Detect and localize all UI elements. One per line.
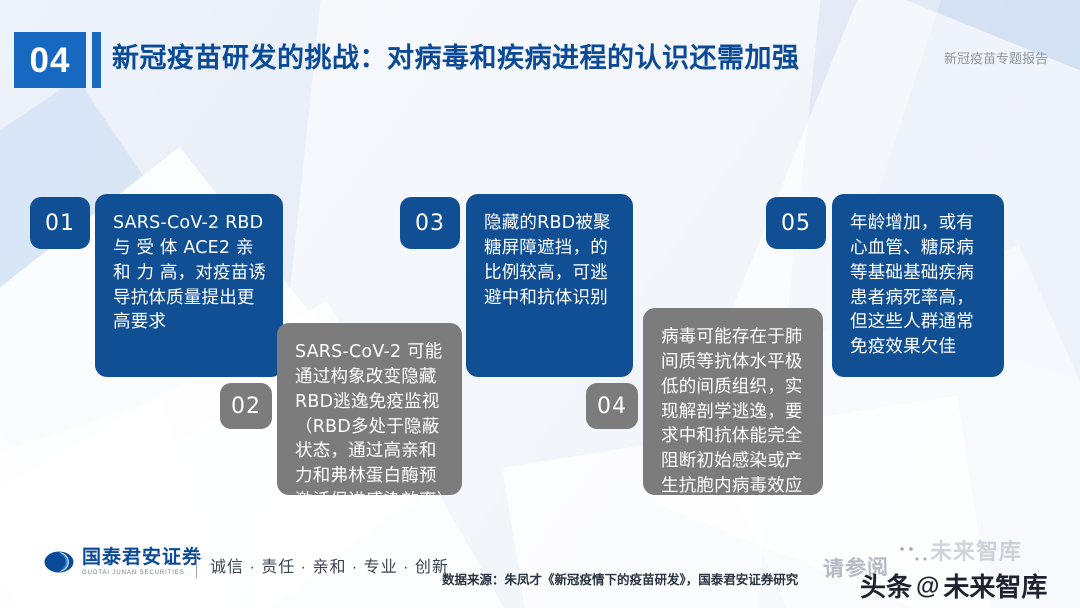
data-source-note: 数据来源：朱凤才《新冠疫情下的疫苗研发》，国泰君安证券研究 xyxy=(442,569,798,588)
card-tag-02: 02 xyxy=(220,383,272,429)
card-body-03: 隐藏的RBD被聚糖屏障遮挡，的比例较高，可逃避中和抗体识别 xyxy=(466,194,633,377)
guotai-junan-logo-icon xyxy=(44,551,74,573)
watermark-at-symbol: @ xyxy=(916,575,939,599)
card-body-01: SARS-CoV-2 RBD 与 受 体 ACE2 亲 和 力 高，对疫苗诱导抗… xyxy=(95,194,283,377)
slide-canvas: 04 新冠疫苗研发的挑战：对病毒和疾病进程的认识还需加强 新冠疫苗专题报告 01… xyxy=(0,0,1080,608)
watermark-brand: 头条 @ 未来智库 xyxy=(860,574,1047,600)
card-body-04: 病毒可能存在于肺间质等抗体水平极低的间质组织，实现解剖学逃逸，要求中和抗体能完全… xyxy=(643,308,823,495)
card-tag-04: 04 xyxy=(586,383,638,429)
card-tag-01: 01 xyxy=(30,197,90,249)
wechat-icon xyxy=(890,538,936,576)
watermark-account-name: 未来智库 xyxy=(943,574,1047,600)
footer-divider xyxy=(196,552,197,578)
page-title: 新冠疫苗研发的挑战：对病毒和疾病进程的认识还需加强 xyxy=(112,36,800,75)
card-body-05: 年龄增加，或有心血管、糖尿病等基础基础疾病患者病死率高，但这些人群通常免疫效果欠… xyxy=(832,194,1004,377)
company-slogan: 诚信 · 责任 · 亲和 · 专业 · 创新 xyxy=(210,553,449,577)
card-tag-05: 05 xyxy=(766,197,826,249)
company-name-en: GUOTAI JUNAN SECURITIES xyxy=(82,570,202,576)
company-name: 国泰君安证券 xyxy=(82,548,202,567)
watermark-faint-text: 未来智库 xyxy=(930,534,1022,566)
card-body-02: SARS-CoV-2 可能通过构象改变隐藏RBD逃逸免疫监视（RBD多处于隐蔽状… xyxy=(277,323,462,495)
report-series-label: 新冠疫苗专题报告 xyxy=(944,48,1048,67)
section-number-text: 04 xyxy=(30,43,71,78)
slide-footer: 国泰君安证券 GUOTAI JUNAN SECURITIES 诚信 · 责任 ·… xyxy=(0,528,1080,608)
company-logo: 国泰君安证券 GUOTAI JUNAN SECURITIES xyxy=(44,548,202,576)
section-number-badge: 04 xyxy=(14,32,86,88)
header-accent-bar xyxy=(92,32,101,88)
watermark-platform: 头条 xyxy=(860,574,912,600)
slide-header: 04 新冠疫苗研发的挑战：对病毒和疾病进程的认识还需加强 新冠疫苗专题报告 xyxy=(0,30,1080,90)
card-tag-03: 03 xyxy=(400,197,460,249)
